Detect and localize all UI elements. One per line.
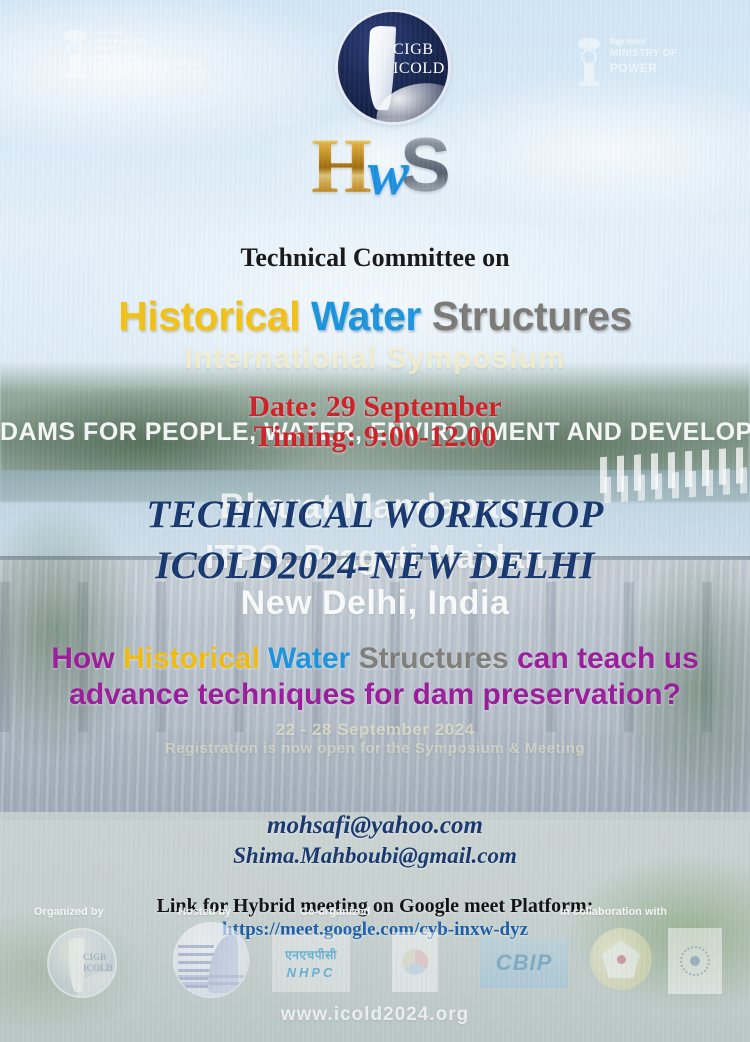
- partner-logo-cwc-icon: [590, 928, 652, 990]
- event-timing-text: Timing: 9:00-12.00: [0, 420, 750, 454]
- workshop-question-text: How Historical Water Structures can teac…: [34, 641, 716, 713]
- ministry-english-line2: POWER: [610, 61, 677, 75]
- ghost-venue-line-3: New Delhi, India: [0, 584, 750, 623]
- hws-wordmark-logo: H w S: [276, 118, 486, 213]
- ashoka-emblem-icon: [576, 36, 602, 88]
- ministry-english-line1: MINISTRY OF: [610, 48, 677, 60]
- organized-by-label: Organized by: [34, 906, 104, 918]
- committee-prefix-text: Technical Committee on: [0, 243, 750, 273]
- ministry-of-power-emblem: विद्युत मंत्रालय MINISTRY OF POWER: [576, 36, 736, 94]
- title-word-water: Water: [311, 293, 421, 339]
- question-segment-1: How: [51, 642, 123, 675]
- title-word-structures: Structures: [432, 293, 632, 339]
- emblem-left-line-6: Ministry of Jal Shakti, Government of In…: [95, 69, 205, 75]
- co-organized-label: Co-organized: [300, 906, 370, 918]
- event-date-text: Date: 29 September: [0, 390, 750, 424]
- title-word-historical: Historical: [118, 293, 300, 339]
- partner-logo-icold-icon: CIGB ICOLD: [47, 928, 117, 998]
- emblem-left-line-1: भारतीय राष्ट्रीय: [95, 31, 205, 37]
- question-segment-3: [350, 642, 358, 675]
- partner-logo-cbip-text: CBIP: [496, 950, 553, 976]
- icold-logo-line-2: ICOLD: [393, 59, 445, 78]
- workshop-title-line-1: TECHNICAL WORKSHOP: [0, 492, 750, 537]
- incold-ministry-emblem: भारतीय राष्ट्रीय बड़े बांधों पर राष्ट्री…: [62, 28, 277, 90]
- partner-logo-nhpc-icon: एनएचपीसी NHPC: [272, 934, 350, 992]
- emblem-left-line-5: Indian National Committee on Large Dams: [95, 61, 205, 67]
- contact-email-secondary[interactable]: Shima.Mahboubi@gmail.com: [0, 843, 750, 869]
- contact-email-primary[interactable]: mohsafi@yahoo.com: [0, 812, 750, 840]
- hosted-by-label: Hosted by: [178, 906, 231, 918]
- partner-logo-sjvn-icon: [392, 932, 438, 992]
- question-segment-2: [260, 642, 268, 675]
- question-word-historical: Historical: [123, 642, 260, 675]
- hws-letter-s: S: [400, 128, 451, 204]
- question-word-structures: Structures: [359, 642, 509, 675]
- emblem-left-line-2: बड़े बांधों पर राष्ट्रीय समिति: [95, 39, 205, 45]
- partner-logo-institute-icon: [668, 928, 722, 994]
- page-title: Historical Water Structures: [0, 293, 750, 340]
- ghost-registration-note: Registration is now open for the Symposi…: [0, 740, 750, 757]
- in-collaboration-label: In collaboration with: [560, 906, 667, 918]
- emblem-left-line-4: मंत्रालय, भारत सरकार: [95, 54, 205, 60]
- emblem-left-line-3: जल शक्ति: [95, 46, 205, 52]
- hws-letter-w-wave-icon: w: [368, 143, 406, 205]
- hws-letter-h: H: [311, 127, 372, 205]
- partner-logo-nhpc-english: NHPC: [287, 965, 336, 980]
- icold-logo-line-1: CIGB: [393, 40, 445, 59]
- ashoka-emblem-icon: [62, 28, 88, 80]
- footer-website-url[interactable]: www.icold2024.org: [0, 1004, 750, 1026]
- ghost-symposium-dates: 22 - 28 September 2024: [0, 720, 750, 740]
- icold-dam-logo-icon: CIGB ICOLD: [338, 12, 448, 122]
- ministry-hindi-label: विद्युत मंत्रालय: [610, 38, 677, 47]
- poster-canvas: International Symposium DAMS FOR PEOPLE,…: [0, 0, 750, 1042]
- partner-logo-incold-icon: [173, 922, 249, 998]
- partner-logo-nhpc-hindi: एनएचपीसी: [285, 946, 337, 963]
- ghost-symposium-text: International Symposium: [0, 342, 750, 376]
- partner-logo-cbip-icon: CBIP: [480, 938, 568, 988]
- question-word-water: Water: [268, 642, 350, 675]
- workshop-title-line-2: ICOLD2024-NEW DELHI: [0, 543, 750, 588]
- partner-logo-icold-text: CIGB ICOLD: [83, 952, 115, 974]
